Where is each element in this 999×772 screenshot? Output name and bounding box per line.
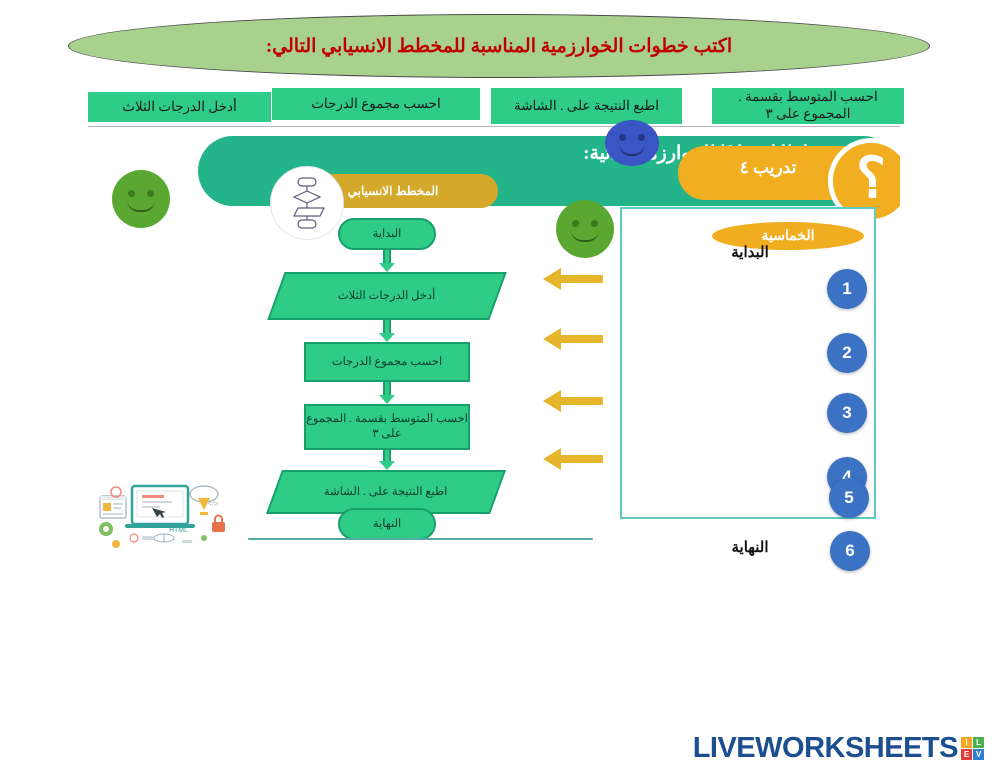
answer-box-3[interactable]: احسب مجموع الدرجات	[272, 88, 480, 120]
step-number-5[interactable]: 5	[829, 478, 869, 518]
pointer-arrow-4	[543, 448, 603, 470]
flow-node-average: احسب المتوسط بقسمة . المجموع على ٣	[304, 404, 470, 450]
green-smiley-icon-2	[556, 200, 614, 258]
divider-bottom	[248, 538, 593, 540]
flowchart-tag-label: المخطط الانسيابي	[348, 184, 439, 199]
answer-box-1[interactable]: احسب المتوسط بقسمة . المجموع على ٣	[712, 88, 904, 124]
flow-node-print-label: اطبع النتيجة على . الشاشة	[324, 485, 448, 500]
exercise-pill-label: تدريب ٤	[688, 158, 848, 178]
liveworksheets-logo: L I V E LIVEWORKSHEETS	[684, 731, 984, 765]
pointer-arrow-1	[543, 268, 603, 290]
title-ellipse: اكتب خطوات الخوارزمية المناسبة للمخطط ال…	[68, 14, 930, 78]
panel-start-label: البداية	[695, 243, 805, 262]
logo-tile-v: V	[973, 749, 984, 760]
svg-text:HTML: HTML	[169, 527, 188, 534]
flow-arrow-4	[379, 450, 395, 470]
logo-wordmark: LIVEWORKSHEETS	[693, 732, 958, 765]
svg-text:</>: </>	[208, 501, 218, 508]
flow-node-input-label: أدخل الدرجات الثلاث	[338, 289, 435, 304]
flowchart: البداية أدخل الدرجات الثلاث احسب مجموع ا…	[258, 218, 518, 533]
answer-box-2[interactable]: اطبع النتيجة على . الشاشة	[491, 88, 682, 124]
logo-tile-l: L	[973, 737, 984, 748]
flow-node-start: البداية	[338, 218, 436, 250]
technology-illustration-svg: HTML </>	[92, 472, 232, 556]
step-number-2[interactable]: 2	[827, 333, 867, 373]
flow-arrow-3	[379, 382, 395, 404]
flow-node-input: أدخل الدرجات الثلاث	[267, 272, 506, 320]
logo-tiles: L I V E	[961, 737, 984, 760]
page-title: اكتب خطوات الخوارزمية المناسبة للمخطط ال…	[266, 35, 732, 58]
flow-node-end: النهاية	[338, 508, 436, 540]
divider-top	[88, 126, 900, 127]
flow-arrow-1	[379, 250, 395, 272]
logo-tile-e: E	[961, 749, 972, 760]
step-number-6[interactable]: 6	[830, 531, 870, 571]
orange-ellipse-label: الخماسية	[762, 228, 815, 245]
step-number-1[interactable]: 1	[827, 269, 867, 309]
blue-smiley-icon	[605, 120, 659, 166]
question-mark-glyph: ؟	[856, 150, 886, 206]
step-number-3[interactable]: 3	[827, 393, 867, 433]
panel-end-label: النهاية	[695, 538, 805, 557]
flow-arrow-2	[379, 320, 395, 342]
green-smiley-icon-1	[112, 170, 170, 228]
technology-illustration: HTML </>	[92, 472, 232, 556]
pointer-arrow-3	[543, 390, 603, 412]
pointer-arrow-2	[543, 328, 603, 350]
answer-box-4[interactable]: أدخل الدرجات الثلاث	[88, 92, 271, 122]
logo-tile-i: I	[961, 737, 972, 748]
flow-node-sum: احسب مجموع الدرجات	[304, 342, 470, 382]
